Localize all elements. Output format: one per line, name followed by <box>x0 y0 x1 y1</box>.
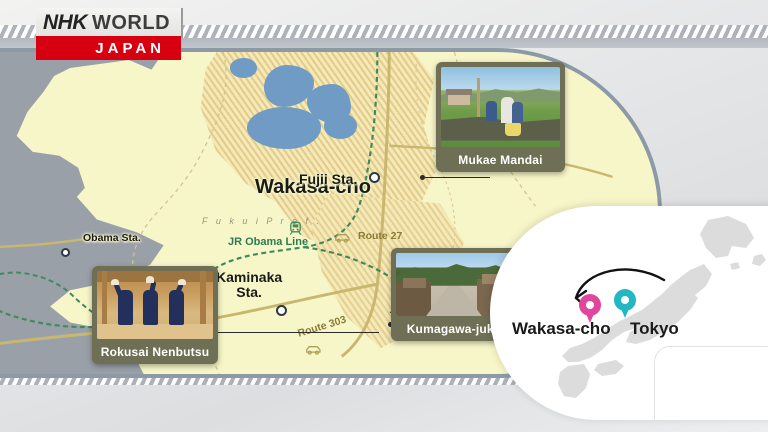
photo-rokusai-nenbutsu <box>97 271 213 339</box>
photo-card-mukae-mandai[interactable]: Mukae Mandai <box>436 62 565 172</box>
station-dot-fujii[interactable] <box>369 172 380 183</box>
label-obama-sta: Obama Sta. <box>83 232 141 244</box>
caption-mukae-mandai: Mukae Mandai <box>441 147 560 172</box>
logo-nhk-text: NHK <box>43 11 87 35</box>
photo-fan-3 <box>178 279 186 285</box>
lake-5 <box>230 58 257 77</box>
lake-4 <box>324 113 357 139</box>
photo-art-rokusai <box>97 271 213 339</box>
photo-fan-1 <box>111 279 119 285</box>
caption-rokusai-nenbutsu: Rokusai Nenbutsu <box>97 339 213 364</box>
nhk-world-japan-logo: NHK WORLD JAPAN <box>36 8 181 60</box>
logo-japan-text: JAPAN <box>95 40 165 57</box>
label-kaminaka-line1: Kaminaka <box>216 269 282 285</box>
lake-3 <box>247 107 320 149</box>
photo-floor <box>97 324 213 339</box>
map-pin-tokyo-tip <box>619 304 631 318</box>
train-icon-svg <box>288 221 303 236</box>
car-icon-svg-2 <box>305 344 322 356</box>
map-pin-tokyo[interactable] <box>614 289 636 319</box>
label-route-27: Route 27 <box>358 230 402 242</box>
logo-world-text: WORLD <box>92 12 170 35</box>
station-dot-obama[interactable] <box>61 248 70 257</box>
car-icon-svg-1 <box>334 232 351 244</box>
photo-person-3 <box>512 102 523 123</box>
inset-label-wakasa-cho: Wakasa-cho <box>512 319 611 339</box>
label-kaminaka-sta: Kaminaka Sta. <box>216 270 282 299</box>
logo-lower-bar: JAPAN <box>36 36 181 60</box>
photo-street <box>426 286 482 316</box>
label-fujii-sta: Fujii Sta. <box>299 171 357 187</box>
logo-upper-bar: NHK WORLD <box>36 8 181 38</box>
photo-house-left-roof <box>403 278 426 288</box>
inset-label-tokyo: Tokyo <box>630 319 679 339</box>
car-icon-route-303 <box>305 344 322 358</box>
broadcast-screen: NHK WORLD JAPAN <box>0 0 768 432</box>
photo-card-rokusai-nenbutsu[interactable]: Rokusai Nenbutsu <box>92 266 218 364</box>
label-fukui-pref: F u k u i P r e f . <box>202 216 322 226</box>
decorative-rounded-outline <box>654 346 768 420</box>
label-kaminaka-line2: Sta. <box>236 284 262 300</box>
leader-line-mukae <box>424 177 490 178</box>
label-jr-obama-line: JR Obama Line <box>228 236 308 248</box>
photo-fan-2 <box>146 276 154 282</box>
photo-bucket <box>505 123 520 136</box>
car-icon-route-27 <box>334 232 351 246</box>
photo-person-1 <box>486 101 497 122</box>
photo-mukae-mandai <box>441 67 560 147</box>
photo-art-mukae <box>441 67 560 147</box>
japan-inset-map: Wakasa-cho Tokyo <box>490 206 768 420</box>
station-dot-kaminaka[interactable] <box>276 305 287 316</box>
photo-roof <box>446 89 472 95</box>
photo-pole <box>477 78 480 123</box>
